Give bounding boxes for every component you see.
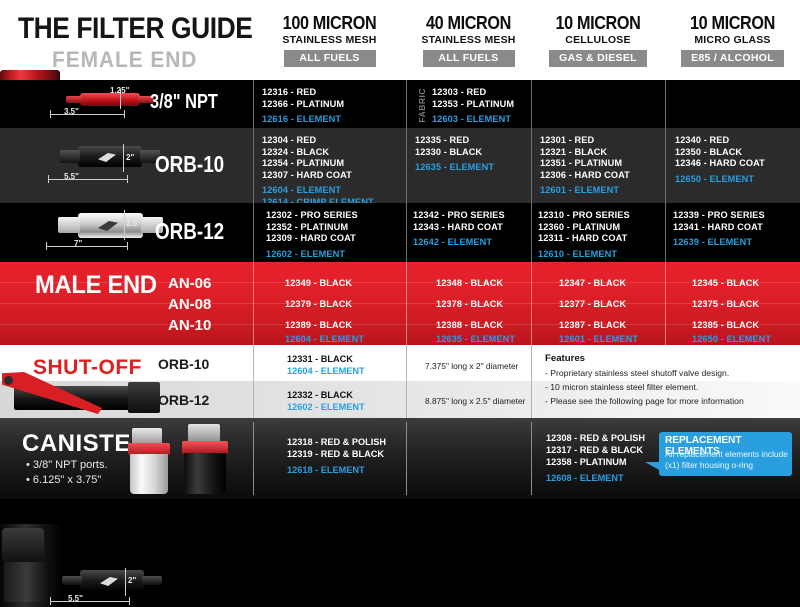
part-number: 12358 - PLATINUM <box>546 457 627 467</box>
dimension-line-diameter <box>124 210 125 240</box>
column-material: STAINLESS MESH <box>253 34 406 46</box>
part-number-element: 12603 - ELEMENT <box>432 114 531 126</box>
filter-end-left <box>62 576 82 585</box>
cell-orb10-10micron-cellulose: 12301 - RED 12321 - BLACK 12351 - PLATIN… <box>540 128 665 203</box>
column-header-10-micron-micro-glass: 10 MICRON MICRO GLASS E85 / ALCOHOL <box>665 14 800 67</box>
column-divider <box>406 203 407 262</box>
cell-orb12-10micron-cellulose: 12310 - PRO SERIES 12360 - PLATINUM 1231… <box>538 203 665 262</box>
dimension-tick-right <box>127 175 128 183</box>
column-divider <box>531 128 532 203</box>
column-divider <box>406 128 407 203</box>
cell-npt-100micron: 12316 - RED 12366 - PLATINUM 12616 - ELE… <box>262 80 406 128</box>
cell-orb10-10micron-microglass: 12340 - RED 12350 - BLACK 12346 - HARD C… <box>675 128 800 203</box>
column-header-40-micron: 40 MICRON STAINLESS MESH ALL FUELS <box>406 14 531 67</box>
row-product-image-pane: 3.5" 1.25" 3/8" NPT <box>0 80 253 128</box>
shutoff-dimension-orb10: 7.375" long x 2" diameter <box>425 361 518 371</box>
part-number: 12309 - HARD COAT <box>266 233 406 245</box>
part-number: 12308 - RED & POLISH <box>546 433 645 443</box>
column-divider <box>253 80 254 128</box>
page-title: THE FILTER GUIDE <box>18 12 252 46</box>
part-number: 12388 - BLACK <box>436 320 503 330</box>
dimension-length-label: 7" <box>74 239 82 248</box>
dimension-line-diameter <box>125 568 126 596</box>
part-number: 12302 - PRO SERIES <box>266 210 406 222</box>
column-divider <box>531 422 532 495</box>
replacement-elements-callout: REPLACEMENT ELEMENTS All replacement ele… <box>659 432 792 476</box>
product-photo-canister-black <box>178 424 236 494</box>
dimension-tick-left <box>48 175 49 183</box>
dimension-length-label: 5.5" <box>68 594 83 603</box>
part-number: 12375 - BLACK <box>692 299 759 309</box>
column-header-100-micron: 100 MICRON STAINLESS MESH ALL FUELS <box>253 14 406 67</box>
part-number-element: 12635 - ELEMENT <box>436 334 515 344</box>
part-number: 12311 - HARD COAT <box>538 233 665 245</box>
shutoff-end-cap <box>128 382 160 413</box>
product-name-npt: 3/8" NPT <box>150 91 218 114</box>
column-divider <box>665 262 666 345</box>
part-number: 12346 - HARD COAT <box>675 158 800 170</box>
size-label-an06: AN-06 <box>168 275 211 292</box>
part-number-element: 12642 - ELEMENT <box>413 237 531 249</box>
column-divider <box>531 345 532 418</box>
female-end-table: 3.5" 1.25" 3/8" NPT 12316 - RED 12366 - … <box>0 80 800 262</box>
column-fuel-chip: ALL FUELS <box>284 50 376 67</box>
part-number: 12330 - BLACK <box>415 147 531 159</box>
part-number-element: 12604 - ELEMENT <box>262 185 406 197</box>
size-label-an08: AN-08 <box>168 296 211 313</box>
part-number: 12316 - RED <box>262 87 406 99</box>
filter-end-left <box>58 217 80 233</box>
cell-npt-40micron: FABRIC 12303 - RED 12353 - PLATINUM 1260… <box>412 80 531 128</box>
part-number: 12341 - HARD COAT <box>673 222 800 234</box>
cell-npt-10micron-microglass <box>675 80 800 128</box>
shutoff-pivot-bolt <box>4 376 13 385</box>
part-number-element: 12601 - ELEMENT <box>540 185 665 197</box>
product-photo-male-end-large <box>0 524 62 607</box>
product-name-orb12: ORB-12 <box>155 218 224 245</box>
column-divider <box>253 345 254 418</box>
filter-guide-page: THE FILTER GUIDE FEMALE END 100 MICRON S… <box>0 0 800 499</box>
part-number: 12377 - BLACK <box>559 299 626 309</box>
column-material: STAINLESS MESH <box>406 34 531 46</box>
feature-item: - Please see the following page for more… <box>545 396 744 406</box>
part-number: 12348 - BLACK <box>436 278 503 288</box>
column-micron: 40 MICRON <box>412 14 525 33</box>
canister-mount-bracket <box>132 428 162 444</box>
column-material: CELLULOSE <box>531 34 665 46</box>
part-number: 12321 - BLACK <box>540 147 665 159</box>
part-number: 12339 - PRO SERIES <box>673 210 800 222</box>
table-row-orb10: 5.5" 2" ORB-10 12304 - RED 12324 - BLACK… <box>0 128 800 203</box>
column-material: MICRO GLASS <box>665 34 800 46</box>
part-number: 12303 - RED <box>432 87 531 99</box>
part-number-element: 12650 - ELEMENT <box>675 174 800 186</box>
part-number: 12349 - BLACK <box>285 278 352 288</box>
section-title-female-end: FEMALE END <box>52 47 197 73</box>
an-fitting-hex <box>2 528 44 562</box>
part-number: 12324 - BLACK <box>262 147 406 159</box>
section-title-shut-off: SHUT-OFF <box>33 356 142 380</box>
part-number-element: 12602 - ELEMENT <box>266 249 406 261</box>
part-number: 12304 - RED <box>262 135 406 147</box>
shutoff-port-label-orb10: ORB-10 <box>158 356 209 372</box>
part-number: 12317 - RED & BLACK <box>546 445 643 455</box>
part-number: 12385 - BLACK <box>692 320 759 330</box>
column-divider <box>665 80 666 128</box>
dimension-diameter-label: 2" <box>128 576 136 585</box>
table-row-orb12: 7" 2.5" ORB-12 12302 - PRO SERIES 12352 … <box>0 203 800 262</box>
part-number: 12343 - HARD COAT <box>413 222 531 234</box>
row-separator <box>0 324 800 325</box>
column-divider <box>253 422 254 495</box>
an-fitting-body <box>4 562 50 602</box>
column-micron: 10 MICRON <box>672 14 794 33</box>
section-title-male-end: MALE END <box>35 271 157 300</box>
page-header: THE FILTER GUIDE FEMALE END 100 MICRON S… <box>0 0 800 80</box>
column-divider <box>253 203 254 262</box>
filter-end-right <box>142 576 162 585</box>
column-divider <box>531 80 532 128</box>
product-name-orb10: ORB-10 <box>155 151 224 178</box>
column-divider <box>406 345 407 418</box>
part-number-element: 12602 - ELEMENT <box>287 402 365 412</box>
part-number: 12354 - PLATINUM <box>262 158 406 170</box>
cell-orb10-100micron: 12304 - RED 12324 - BLACK 12354 - PLATIN… <box>262 128 406 203</box>
dimension-diameter-label: 2.5" <box>126 219 141 228</box>
filter-end-left <box>66 96 82 103</box>
column-divider <box>253 262 254 345</box>
shut-off-section: SHUT-OFF ORB-10 ORB-12 12331 - BLACK 126… <box>0 345 800 418</box>
dimension-diameter-label: 2" <box>126 153 134 162</box>
fabric-label: FABRIC <box>417 88 427 123</box>
row-product-image-pane: 5.5" 2" ORB-10 <box>0 128 253 203</box>
cell-orb12-40micron: 12342 - PRO SERIES 12343 - HARD COAT 126… <box>413 203 531 262</box>
part-number: 12318 - RED & POLISH <box>287 437 386 447</box>
column-divider <box>406 262 407 345</box>
column-divider <box>406 422 407 495</box>
part-number: 12389 - BLACK <box>285 320 352 330</box>
dimension-line-length <box>50 114 125 115</box>
column-divider <box>406 80 407 128</box>
features-heading: Features <box>545 353 585 364</box>
column-fuel-chip: GAS & DIESEL <box>549 50 647 67</box>
dimension-line-diameter <box>123 144 124 172</box>
product-photo-orb10-filter <box>60 144 160 170</box>
feature-item: - 10 micron stainless steel filter eleme… <box>545 382 698 392</box>
canister-spec-ports: • 3/8" NPT ports. <box>26 459 108 471</box>
dimension-tick-left <box>46 242 47 250</box>
column-divider <box>531 262 532 345</box>
part-number: 12379 - BLACK <box>285 299 352 309</box>
canister-mount-bracket <box>188 424 220 442</box>
dimension-tick-right <box>127 242 128 250</box>
dimension-line-length <box>46 246 128 247</box>
feature-item: - Proprietary stainless steel shutoff va… <box>545 368 729 378</box>
column-fuel-chip: E85 / ALCOHOL <box>681 50 784 67</box>
size-label-an10: AN-10 <box>168 317 211 334</box>
shutoff-dimension-orb12: 8.875" long x 2.5" diameter <box>425 396 525 406</box>
dimension-tick-left <box>50 597 51 605</box>
product-photo-canister-polish <box>124 428 180 494</box>
canister-spec-size: • 6.125" x 3.75" <box>26 474 101 486</box>
dimension-line-length <box>50 601 130 602</box>
dimension-length-label: 3.5" <box>64 107 79 116</box>
dimension-tick-left <box>50 110 51 118</box>
column-divider <box>531 203 532 262</box>
part-number: 12353 - PLATINUM <box>432 99 531 111</box>
cell-npt-10micron-cellulose <box>540 80 665 128</box>
product-photo-orb12-filter <box>58 212 163 240</box>
part-number-element: 12610 - ELEMENT <box>538 249 665 261</box>
table-row-npt: 3.5" 1.25" 3/8" NPT 12316 - RED 12366 - … <box>0 80 800 128</box>
part-number: 12366 - PLATINUM <box>262 99 406 111</box>
part-number-element: 12618 - ELEMENT <box>287 465 365 475</box>
column-micron: 10 MICRON <box>538 14 659 33</box>
part-number-element: 12639 - ELEMENT <box>673 237 800 249</box>
part-number: 12301 - RED <box>540 135 665 147</box>
cell-orb12-100micron: 12302 - PRO SERIES 12352 - PLATINUM 1230… <box>266 203 406 262</box>
part-number: 12319 - RED & BLACK <box>287 449 384 459</box>
part-number: 12345 - BLACK <box>692 278 759 288</box>
part-number: 12307 - HARD COAT <box>262 170 406 182</box>
row-separator <box>0 303 800 304</box>
canister-bowl-polish <box>130 454 168 494</box>
column-fuel-chip: ALL FUELS <box>423 50 515 67</box>
column-divider <box>253 128 254 203</box>
part-number: 12342 - PRO SERIES <box>413 210 531 222</box>
part-number-element: 12601 - ELEMENT <box>559 334 638 344</box>
part-number-element: 12608 - ELEMENT <box>546 473 624 483</box>
dimension-diameter-label: 1.25" <box>110 86 129 95</box>
part-number-element: 12604 - ELEMENT <box>287 366 365 376</box>
part-number: 12310 - PRO SERIES <box>538 210 665 222</box>
cell-orb12-10micron-microglass: 12339 - PRO SERIES 12341 - HARD COAT 126… <box>673 203 800 262</box>
male-end-section: MALE END 5.5" 2" AN-06 AN-08 AN-10 12349… <box>0 262 800 345</box>
part-number: 12340 - RED <box>675 135 800 147</box>
part-number: 12332 - BLACK <box>287 390 353 400</box>
callout-body: All replacement elements include (x1) fi… <box>665 449 789 470</box>
part-number: 12378 - BLACK <box>436 299 503 309</box>
part-number: 12335 - RED <box>415 135 531 147</box>
part-number-element: 12635 - ELEMENT <box>415 162 531 174</box>
column-divider <box>665 128 666 203</box>
part-number-element: 12650 - ELEMENT <box>692 334 771 344</box>
part-number: 12306 - HARD COAT <box>540 170 665 182</box>
column-micron: 100 MICRON <box>261 14 399 33</box>
part-number: 12360 - PLATINUM <box>538 222 665 234</box>
column-header-10-micron-cellulose: 10 MICRON CELLULOSE GAS & DIESEL <box>531 14 665 67</box>
part-number: 12387 - BLACK <box>559 320 626 330</box>
shutoff-port-label-orb12: ORB-12 <box>158 392 209 408</box>
part-number: 12351 - PLATINUM <box>540 158 665 170</box>
cell-orb10-40micron: 12335 - RED 12330 - BLACK 12635 - ELEMEN… <box>415 128 531 203</box>
dimension-length-label: 5.5" <box>64 172 79 181</box>
part-number: 12331 - BLACK <box>287 354 353 364</box>
product-photo-male-filter <box>62 568 162 594</box>
part-number-element: 12604 - ELEMENT <box>285 334 364 344</box>
row-product-image-pane: 7" 2.5" ORB-12 <box>0 203 253 262</box>
part-number-element: 12616 - ELEMENT <box>262 114 406 126</box>
dimension-line-length <box>48 179 128 180</box>
part-number: 12347 - BLACK <box>559 278 626 288</box>
part-number: 12350 - BLACK <box>675 147 800 159</box>
canister-bowl-black <box>184 453 226 494</box>
column-divider <box>665 203 666 262</box>
filter-end-left <box>60 150 80 163</box>
dimension-tick-right <box>129 597 130 605</box>
dimension-tick-right <box>124 110 125 118</box>
part-number: 12352 - PLATINUM <box>266 222 406 234</box>
